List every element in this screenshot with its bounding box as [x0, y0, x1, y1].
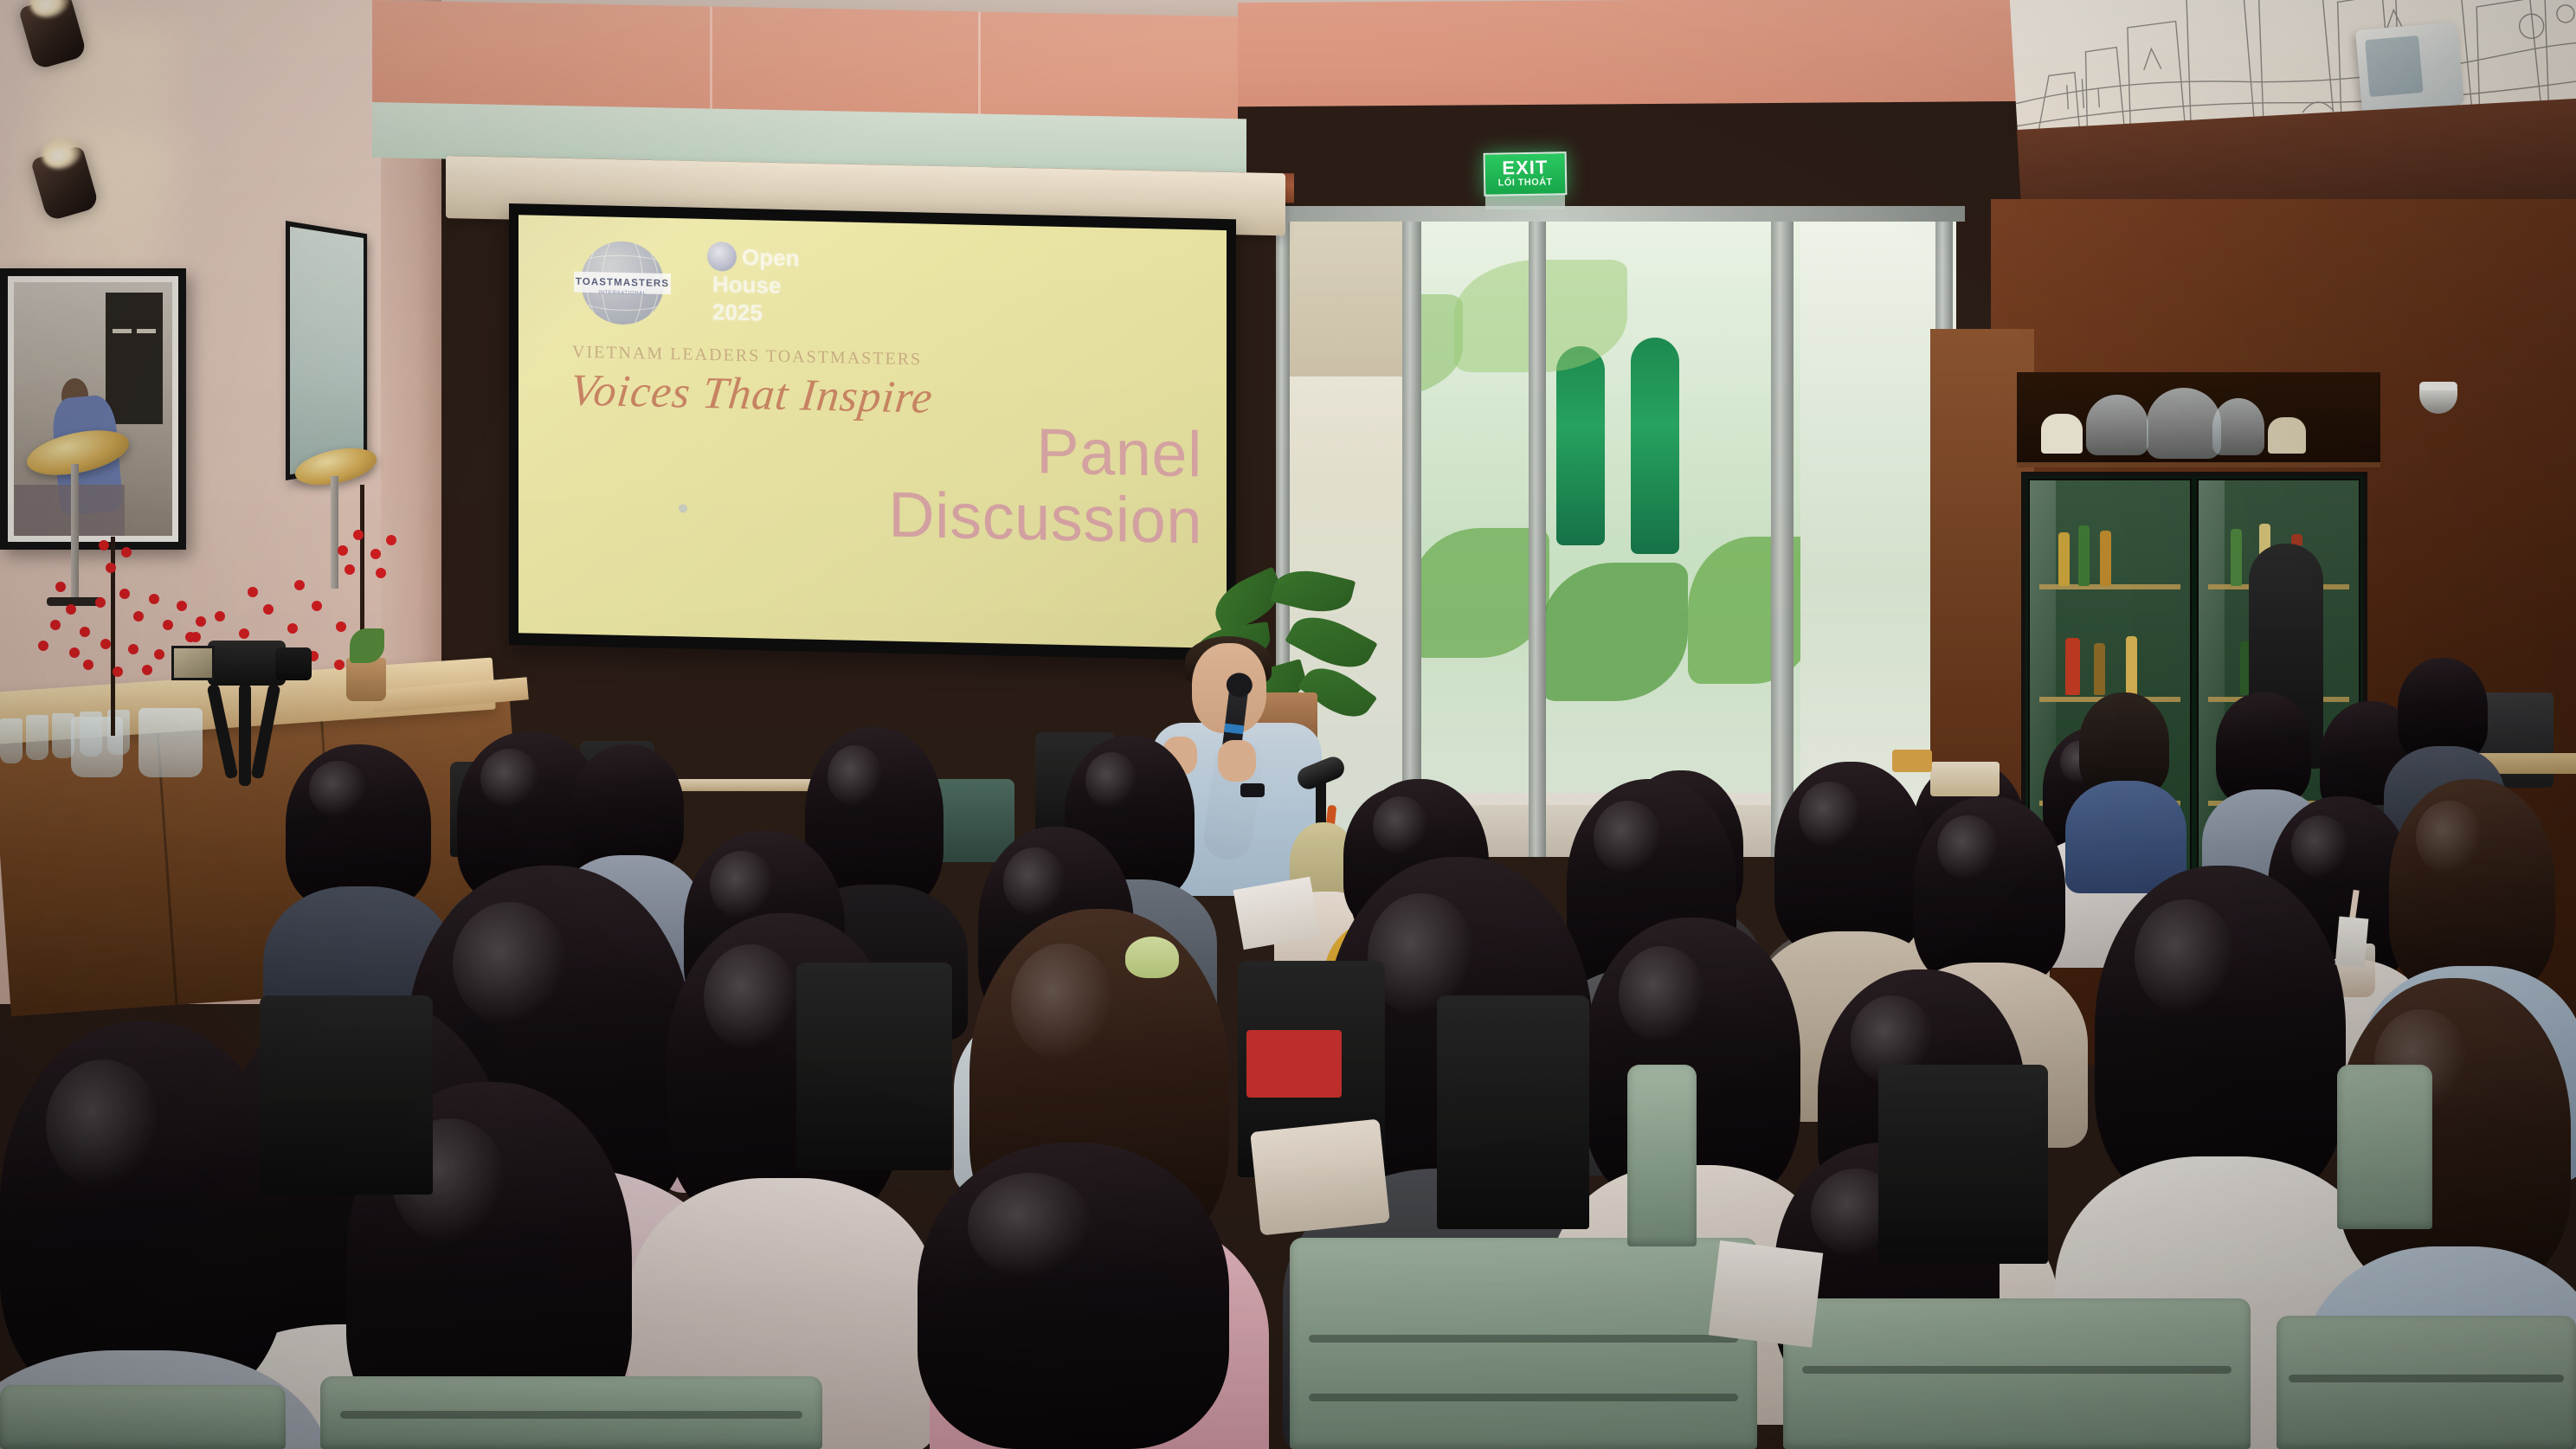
open-house-logo: Open House 2025 — [707, 240, 854, 335]
sage-chair[interactable] — [1290, 1238, 1757, 1449]
folded-jacket — [1250, 1118, 1390, 1235]
door-header — [1272, 206, 1965, 222]
small-object — [1892, 750, 1932, 772]
open-house-line3: 2025 — [712, 300, 763, 325]
open-house-line1: Open — [742, 246, 799, 270]
toastmasters-wordmark: TOASTMASTERS — [576, 277, 669, 289]
exit-sign-english: EXIT — [1502, 158, 1548, 178]
display-shelf — [2017, 372, 2380, 467]
wristwatch-icon — [1240, 783, 1265, 797]
shelf-ornament — [2041, 414, 2083, 454]
window-shade — [1287, 221, 1408, 377]
slide-title: Panel Discussion — [718, 411, 1202, 555]
red-pouch — [1246, 1030, 1342, 1098]
event-photo-scene: EXIT LỐI THOÁT TOASTMASTERS INTERNATIONA… — [0, 0, 2576, 1449]
camera-lcd-screen — [171, 646, 215, 680]
patio-umbrella — [1556, 346, 1605, 545]
cursor-dot-icon — [679, 504, 687, 512]
exit-sign-vietnamese: LỐI THOÁT — [1498, 177, 1553, 190]
slide-title-line2: Discussion — [718, 478, 1202, 555]
toastmasters-logo-icon: TOASTMASTERS INTERNATIONAL — [581, 241, 664, 325]
open-house-mark-icon — [707, 241, 737, 272]
patio-umbrella — [1631, 338, 1679, 554]
roller-blind-right — [1238, 0, 2051, 106]
black-chair[interactable] — [1437, 995, 1589, 1229]
projection-screen: TOASTMASTERS INTERNATIONAL Open House 20… — [509, 203, 1236, 660]
background-chair — [931, 779, 1014, 862]
paper-handout — [2335, 917, 2369, 968]
exit-sign: EXIT LỐI THOÁT — [1484, 151, 1568, 196]
slide-title-line1: Panel — [718, 411, 1202, 488]
door-mullion — [1529, 216, 1546, 857]
small-potted-plant — [346, 658, 386, 701]
black-chair[interactable] — [260, 995, 433, 1195]
door-mullion — [1402, 216, 1421, 857]
black-chair[interactable] — [1878, 1065, 2048, 1264]
sage-chair[interactable] — [1783, 1298, 2251, 1449]
speaker-hand — [1218, 740, 1256, 782]
projection-screen-surface: TOASTMASTERS INTERNATIONAL Open House 20… — [518, 215, 1227, 648]
paper-handout — [1709, 1240, 1824, 1348]
door-mullion — [1771, 212, 1794, 857]
sage-chair[interactable] — [2337, 1065, 2432, 1229]
sage-chair[interactable] — [1627, 1065, 1697, 1246]
tripod-leg — [239, 684, 251, 786]
framed-photograph — [0, 268, 186, 550]
camera-lens-icon — [275, 647, 312, 680]
black-chair[interactable] — [796, 963, 952, 1170]
table-surface — [1930, 762, 2000, 796]
plant-leaf-icon — [350, 628, 384, 663]
sage-chair[interactable] — [2277, 1316, 2576, 1449]
wall-mounted-speaker — [2355, 22, 2464, 113]
shelf-ornament — [2268, 417, 2306, 454]
camera-on-tripod — [208, 641, 286, 686]
sage-chair[interactable] — [320, 1376, 822, 1449]
sage-chair[interactable] — [0, 1385, 286, 1449]
hair-bow-accessory — [1125, 937, 1179, 978]
open-house-line2: House — [712, 273, 781, 298]
framed-picture-secondary — [286, 221, 367, 480]
